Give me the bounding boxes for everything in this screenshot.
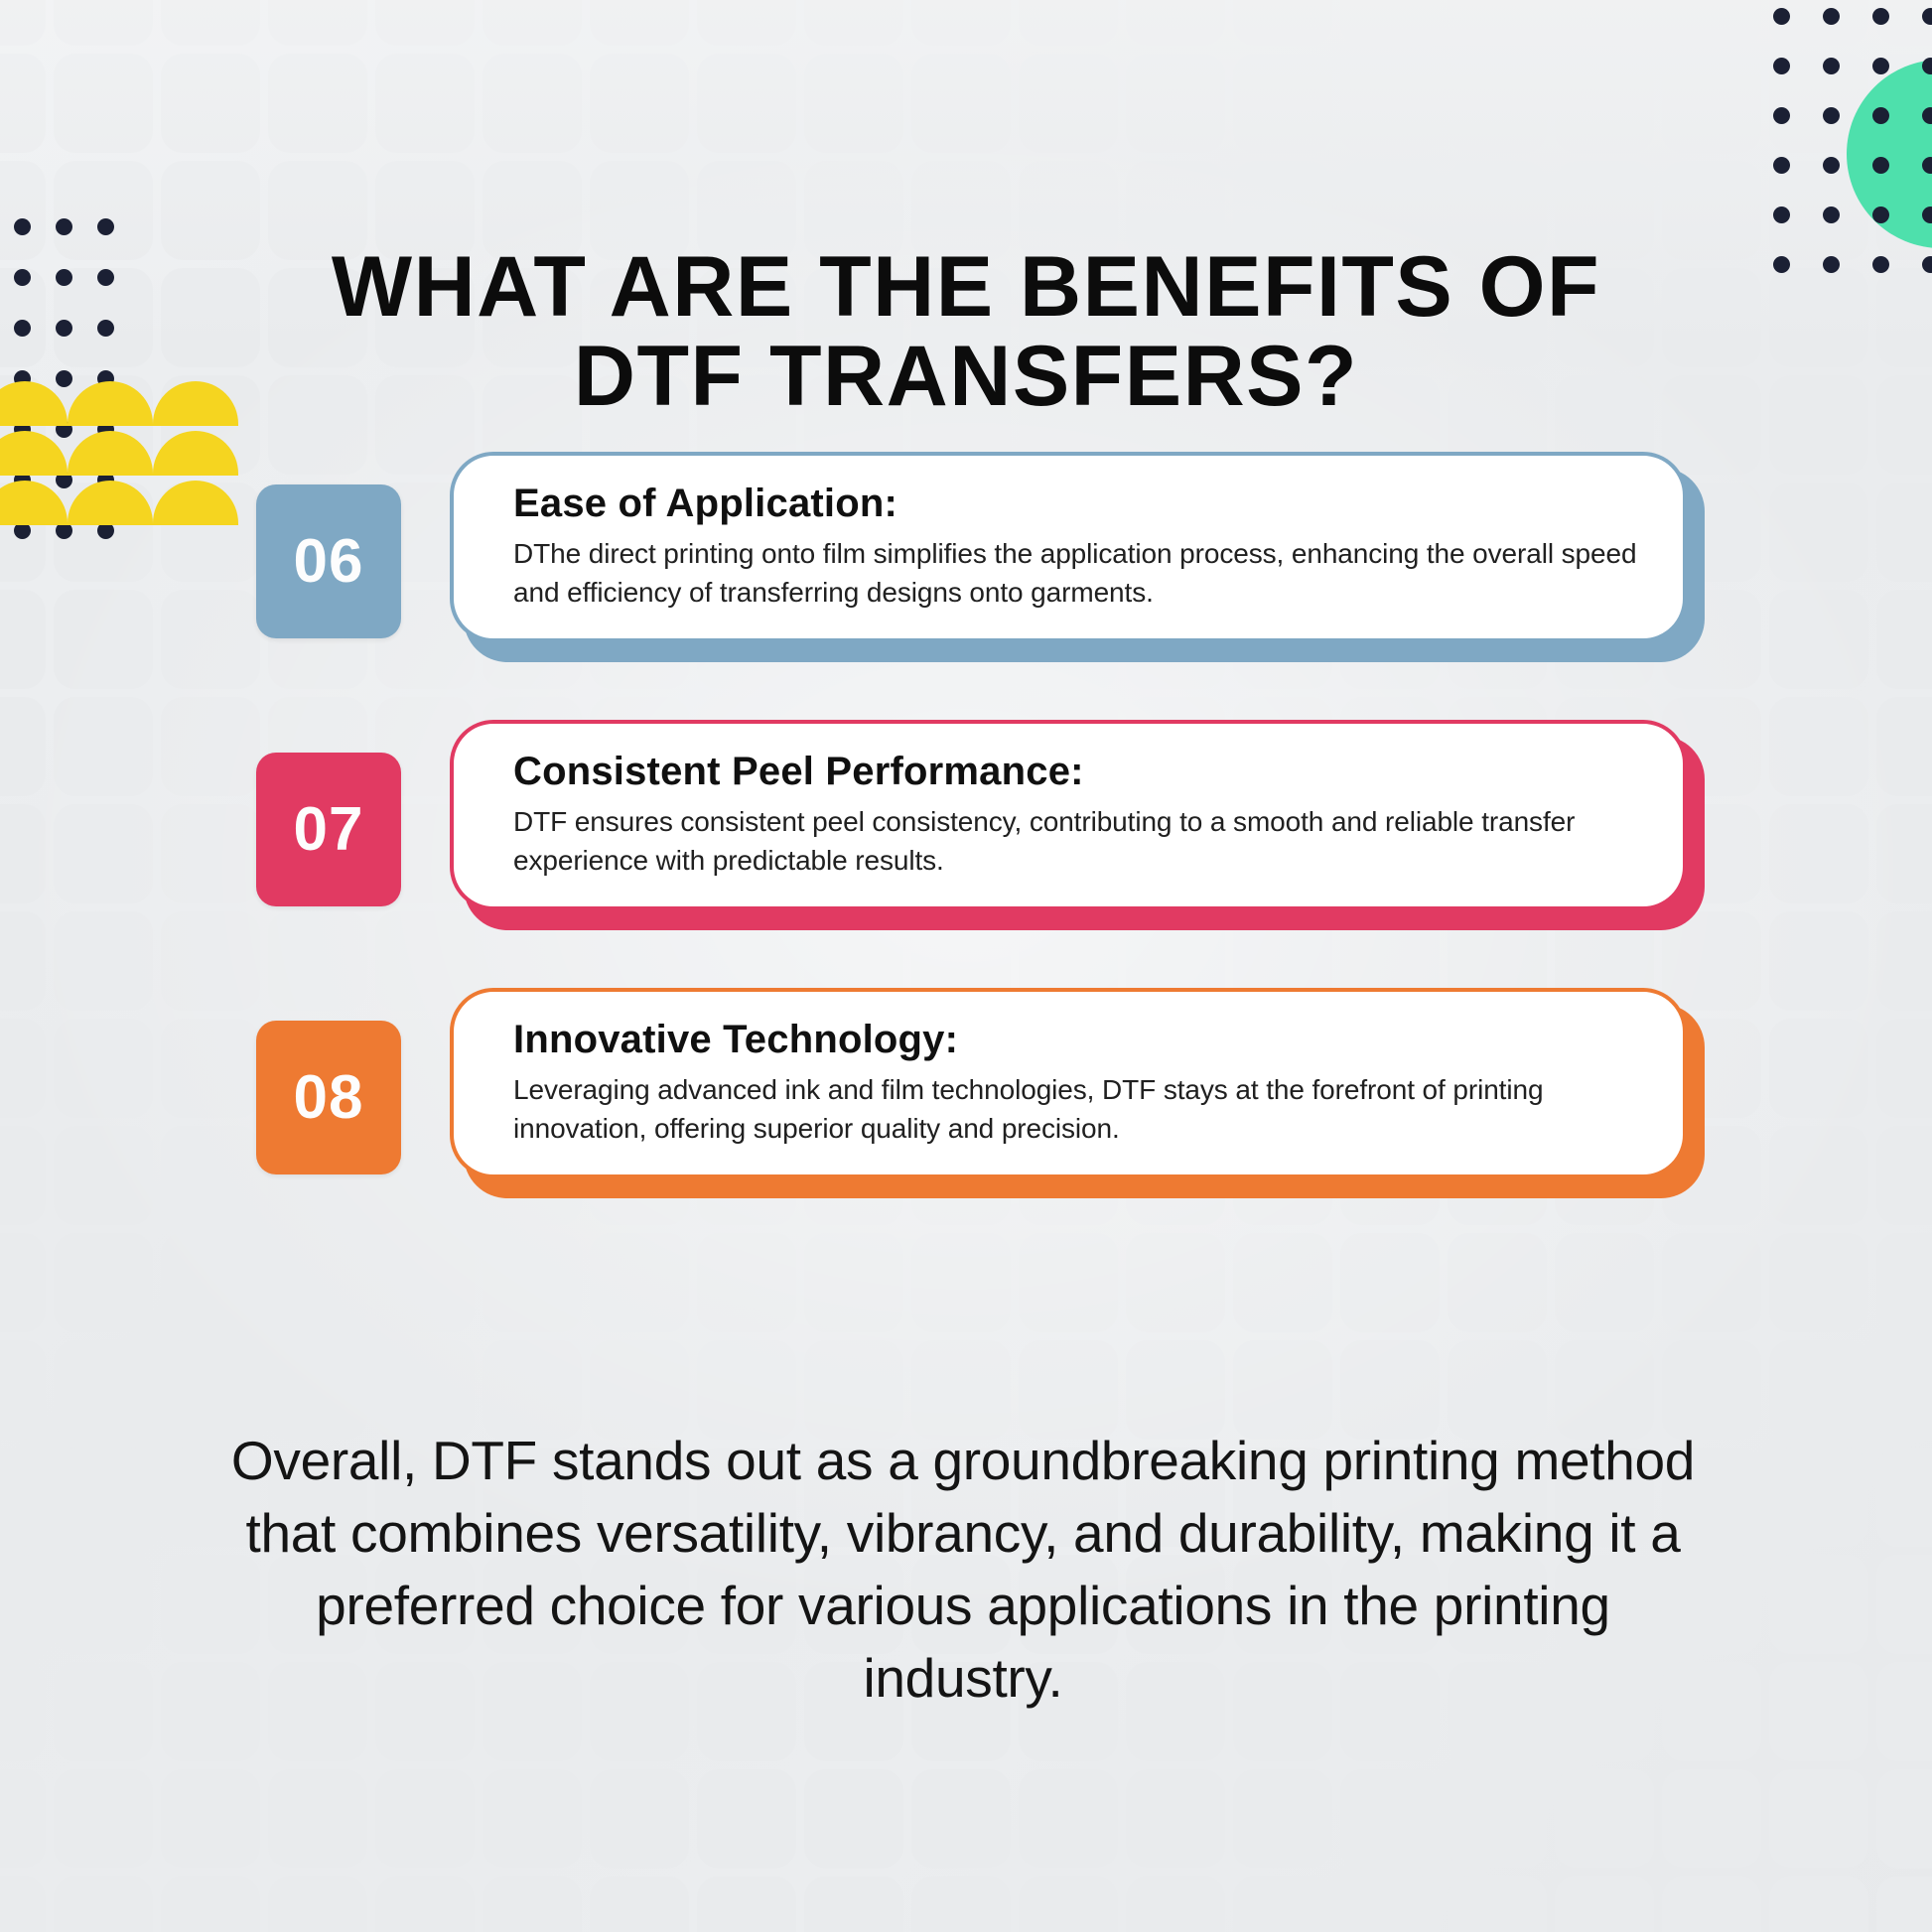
benefit-card-title: Innovative Technology:: [513, 1018, 1639, 1061]
benefit-card-title: Consistent Peel Performance:: [513, 750, 1639, 793]
benefit-row: 08Innovative Technology:Leveraging advan…: [0, 988, 1932, 1216]
benefit-card-body: DTF ensures consistent peel consistency,…: [513, 803, 1639, 880]
benefit-card-body: Leveraging advanced ink and film technol…: [513, 1071, 1639, 1148]
benefit-number-label: 06: [294, 526, 364, 597]
benefit-number-badge: 08: [256, 1021, 401, 1174]
benefit-card: Innovative Technology:Leveraging advance…: [450, 988, 1687, 1178]
benefit-number-label: 07: [294, 794, 364, 865]
benefit-row: 06Ease of Application:DThe direct printi…: [0, 452, 1932, 680]
closing-paragraph: Overall, DTF stands out as a groundbreak…: [228, 1425, 1698, 1716]
benefit-number-badge: 06: [256, 484, 401, 638]
infographic-canvas: WHAT ARE THE BENEFITS OF DTF TRANSFERS? …: [0, 0, 1932, 1932]
benefit-card: Consistent Peel Performance:DTF ensures …: [450, 720, 1687, 910]
benefit-number-badge: 07: [256, 753, 401, 906]
benefit-card: Ease of Application:DThe direct printing…: [450, 452, 1687, 642]
benefit-number-label: 08: [294, 1062, 364, 1133]
benefit-card-body: DThe direct printing onto film simplifie…: [513, 535, 1639, 612]
benefit-row: 07Consistent Peel Performance:DTF ensure…: [0, 720, 1932, 948]
benefit-card-title: Ease of Application:: [513, 482, 1639, 525]
teal-circle-decoration: [1847, 60, 1932, 248]
page-title: WHAT ARE THE BENEFITS OF DTF TRANSFERS?: [241, 242, 1691, 422]
